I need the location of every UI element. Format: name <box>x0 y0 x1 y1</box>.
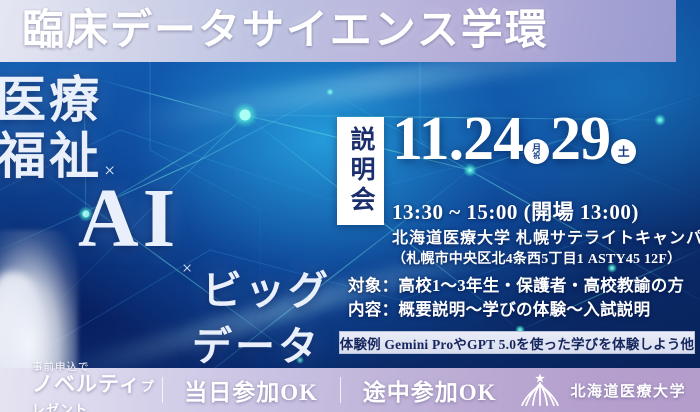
university-logo: 北海道医療大学 <box>518 373 700 407</box>
page-title: 臨床データサイエンス学環 <box>22 2 549 60</box>
novelty-main-text: ノベルティ <box>32 372 141 396</box>
experience-highlight-bar: 体験例 Gemini ProやGPT 5.0を使った学びを体験しよう他 <box>339 331 695 354</box>
novelty-main: ノベルティプレゼント <box>32 373 162 412</box>
university-name-label: 北海道医療大学 <box>570 380 686 401</box>
keyword-data: データ <box>192 314 321 372</box>
poster-canvas: 臨床データサイエンス学環 医療 福祉 × AI × ビッグ データ 説明会 11… <box>0 0 700 412</box>
novelty-offer: 事前申込で ノベルティプレゼント <box>0 362 162 412</box>
event-content: 内容：概要説明〜学びの体験〜入試説明 <box>348 296 650 320</box>
cross-symbol-2: × <box>182 258 192 279</box>
event-venue: 北海道医療大学 札幌サテライトキャンパス <box>392 224 700 248</box>
keyword-ai: AI <box>78 170 179 267</box>
footer-band: 事前申込で ノベルティプレゼント 当日参加OK 途中参加OK <box>0 368 700 412</box>
keyword-big: ビッグ <box>202 258 331 316</box>
day-badge-1-line2: 祝 <box>533 153 540 160</box>
mid-join-ok-note: 途中参加OK <box>341 373 519 407</box>
university-crest-icon <box>518 373 562 407</box>
date-primary: 11.24 <box>392 108 523 170</box>
experience-highlight-text: 体験例 Gemini ProやGPT 5.0を使った学びを体験しよう他 <box>340 333 695 353</box>
date-secondary: 29 <box>550 108 610 170</box>
event-time: 13:30 ~ 15:00 (開場 13:00) <box>392 196 639 226</box>
day-badge-monday-holiday: 月 祝 <box>524 139 549 164</box>
day-badge-saturday: 土 <box>611 139 636 164</box>
event-date-row: 11.24 月 祝 29 土 <box>392 108 637 170</box>
event-address: （札幌市中央区北4条西5丁目1 ASTY45 12F） <box>392 248 681 268</box>
session-label-box: 説明会 <box>337 117 384 225</box>
session-label-text: 説明会 <box>348 126 373 216</box>
same-day-ok-note: 当日参加OK <box>162 373 340 407</box>
event-target: 対象：高校1〜3年生・保護者・高校教諭の方 <box>348 272 684 296</box>
